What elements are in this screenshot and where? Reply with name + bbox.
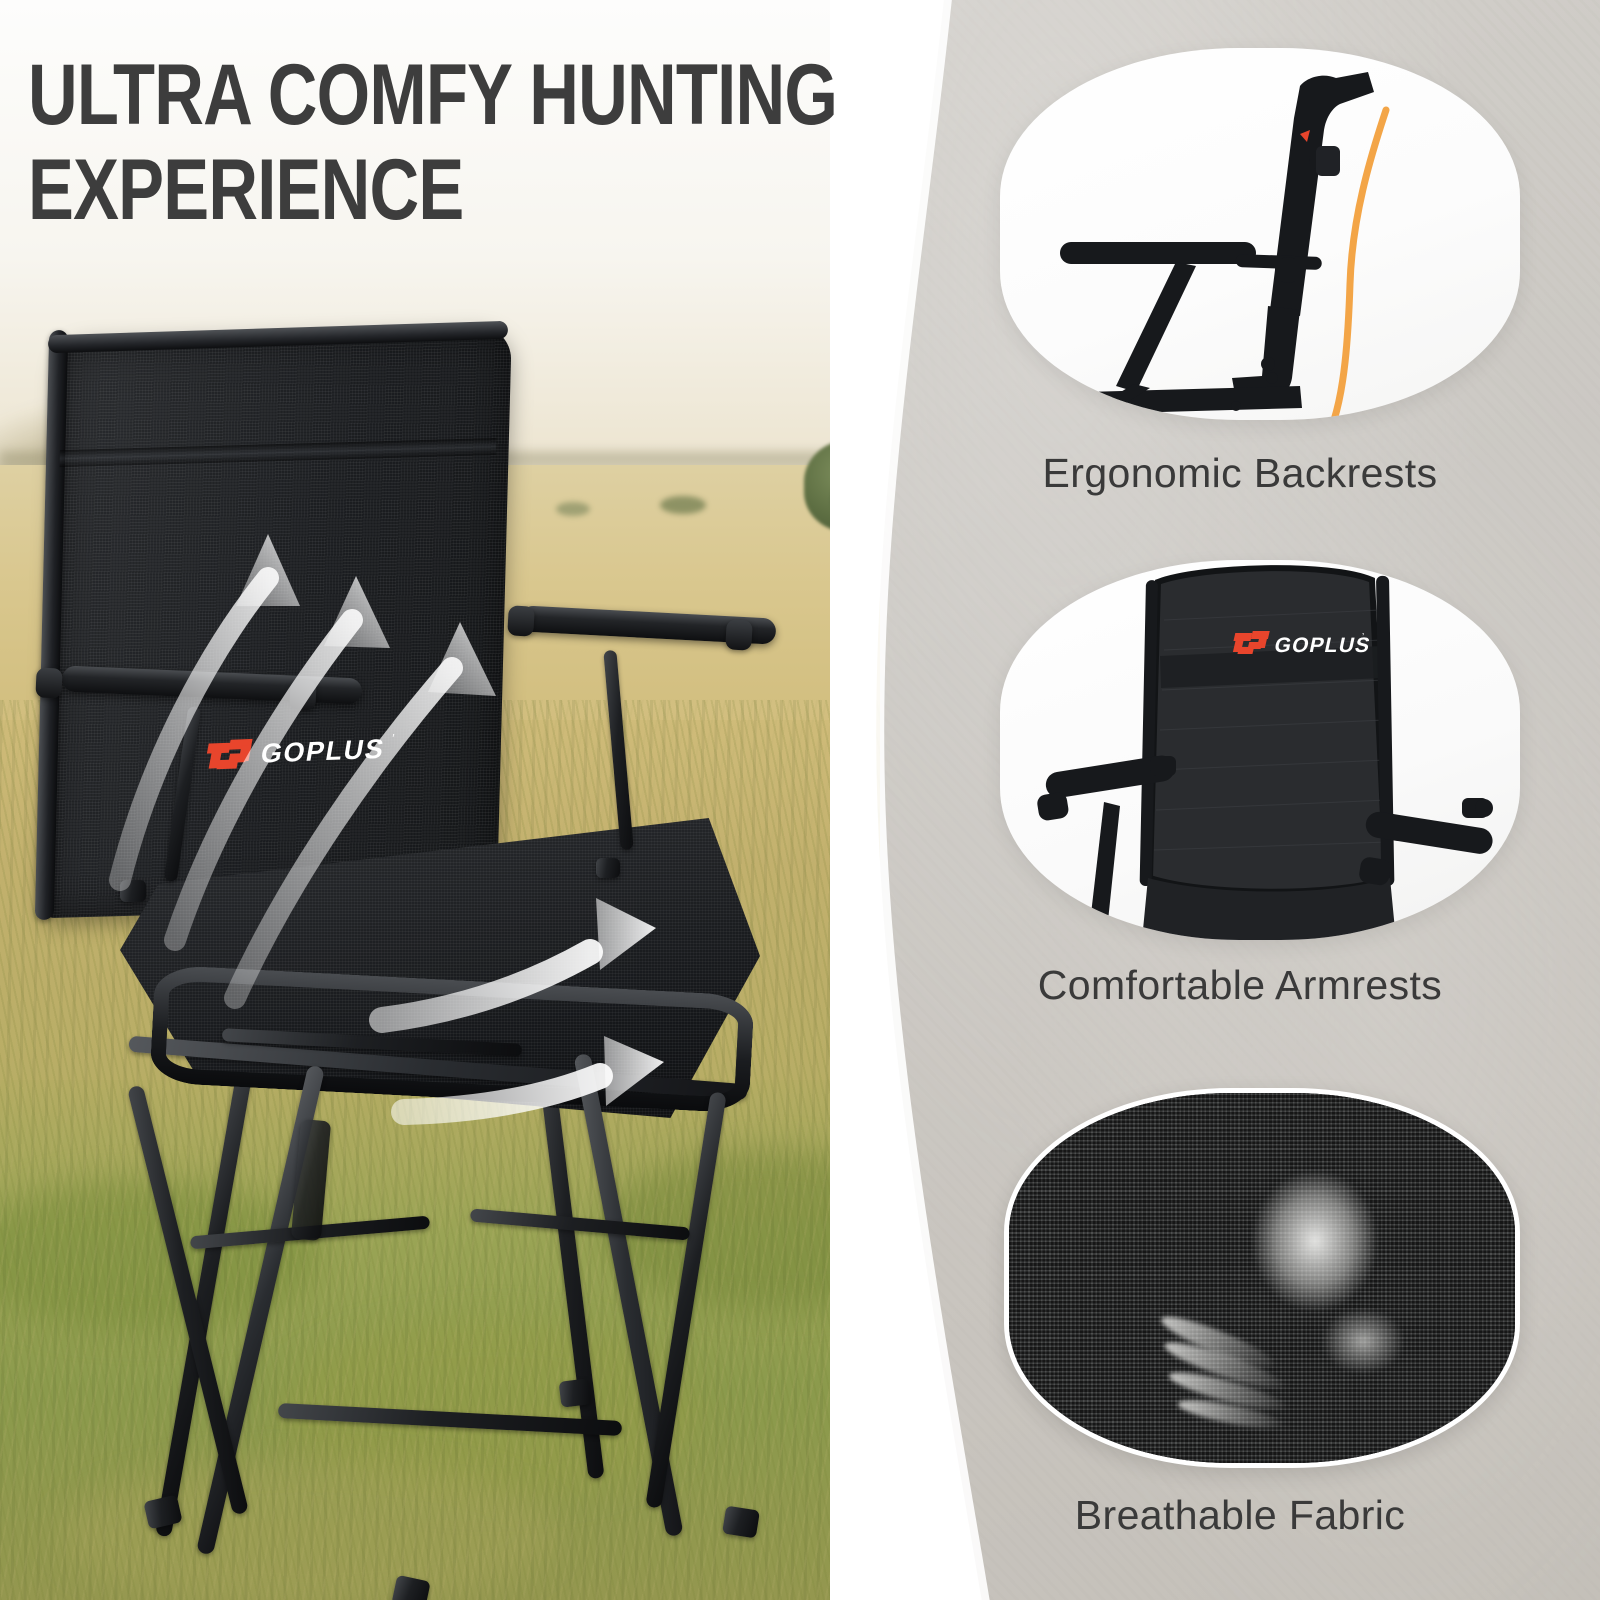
armrest-left-cap: [35, 667, 62, 698]
lifestyle-photo: GOPLUS ’: [0, 0, 960, 1600]
leg-stretcher-front: [278, 1403, 622, 1436]
armrest-right-post: [603, 650, 633, 850]
headline-line-2: EXPERIENCE: [28, 143, 748, 238]
curved-divider: [830, 0, 1090, 1600]
hinge-left: [120, 880, 146, 902]
foot-cap-left: [143, 1495, 182, 1530]
foot-cap-rear-right: [559, 1378, 592, 1407]
product-feature-poster: GOPLUS ’: [0, 0, 1600, 1600]
armrest-right-endcap: [725, 619, 753, 650]
foot-cap-right: [722, 1506, 760, 1539]
chair-backrest: [44, 326, 512, 918]
goplus-wordmark: GOPLUS: [258, 733, 387, 769]
headline-line-1: ULTRA COMFY HUNTING: [28, 47, 837, 143]
armrest-left-endcap: [289, 679, 316, 710]
armrest-right-cap: [507, 605, 535, 636]
mesh-texture: [44, 326, 512, 918]
leg-stretcher-right: [470, 1208, 690, 1240]
svg-text:’: ’: [1362, 632, 1364, 643]
gp-monogram-icon: [207, 737, 254, 773]
svg-text:GOPLUS: GOPLUS: [1272, 634, 1373, 657]
hinge-right: [596, 858, 620, 878]
goplus-logo: GOPLUS ’: [207, 731, 394, 772]
chair-leg-right-outer: [645, 1091, 727, 1508]
page-title: ULTRA COMFY HUNTING EXPERIENCE: [28, 48, 748, 237]
hunting-chair: GOPLUS ’: [0, 320, 840, 1550]
chair-leg-rear-left: [155, 1023, 261, 1538]
